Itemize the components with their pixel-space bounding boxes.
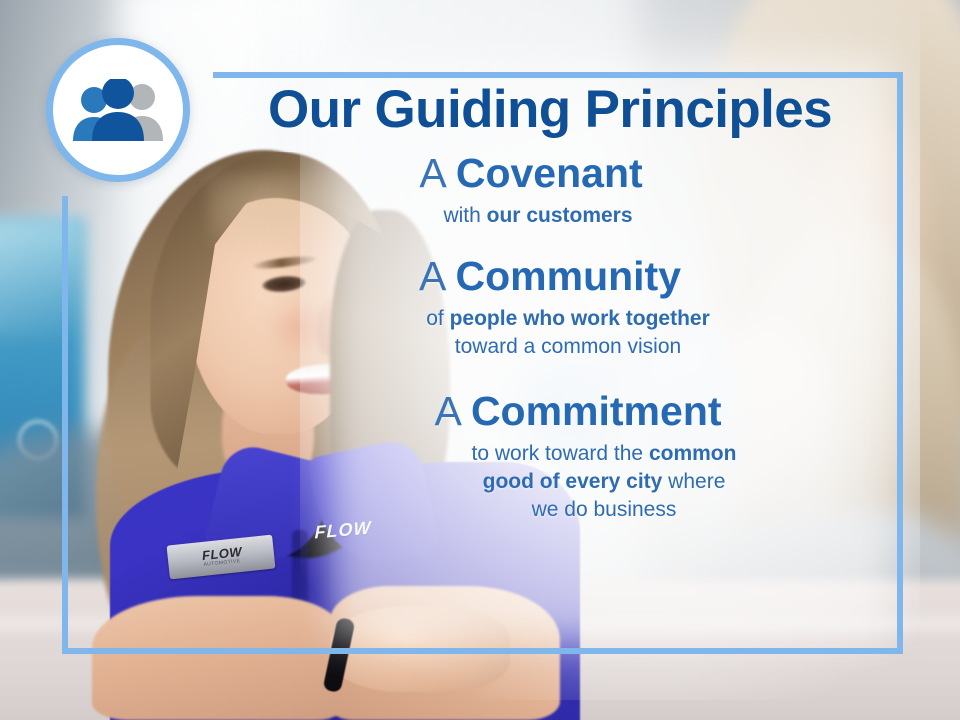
sub-text-bold: people who work together bbox=[450, 307, 710, 330]
sub-line: with our customers bbox=[230, 202, 846, 230]
sub-text-plain: we do business bbox=[532, 498, 677, 521]
principle-community-sub: of people who work together toward a com… bbox=[216, 305, 884, 360]
principle-commitment-article: A bbox=[434, 388, 459, 434]
principle-covenant-word: Covenant bbox=[456, 150, 643, 196]
people-group-icon bbox=[66, 79, 170, 141]
sub-line: good of every city where bbox=[324, 468, 884, 496]
employee-arm-left bbox=[92, 596, 342, 720]
sub-text-bold: common bbox=[649, 442, 737, 465]
principle-covenant: A Covenant with our customers bbox=[216, 151, 884, 230]
sub-line: of people who work together bbox=[252, 305, 884, 333]
principle-commitment: A Commitment to work toward the common g… bbox=[216, 389, 884, 523]
sub-line: to work toward the common bbox=[324, 440, 884, 468]
sub-line: toward a common vision bbox=[252, 333, 884, 361]
page-title: Our Guiding Principles bbox=[216, 82, 884, 137]
poster-root: FLOW FLOW AUTOMOTIVE Our Gui bbox=[0, 0, 960, 720]
employee-hands bbox=[330, 606, 510, 692]
sub-text-plain: with bbox=[443, 204, 486, 227]
principle-commitment-sub: to work toward the common good of every … bbox=[272, 440, 884, 523]
principle-covenant-article: A bbox=[419, 150, 444, 196]
principle-community: A Community of people who work together … bbox=[216, 254, 884, 361]
text-stack: Our Guiding Principles A Covenant with o… bbox=[216, 82, 884, 523]
sub-text-plain: of bbox=[426, 307, 449, 330]
display-board-highlight bbox=[0, 218, 85, 338]
sub-text-bold: our customers bbox=[487, 204, 633, 227]
sub-line: we do business bbox=[324, 496, 884, 524]
sub-text-plain: to work toward the bbox=[472, 442, 649, 465]
principle-covenant-heading: A Covenant bbox=[216, 151, 846, 195]
principle-community-word: Community bbox=[456, 253, 682, 299]
principle-commitment-word: Commitment bbox=[471, 388, 722, 434]
sub-text-plain: where bbox=[662, 470, 725, 493]
sub-text-plain: toward a common vision bbox=[455, 335, 681, 358]
sub-text-bold: good of every city bbox=[483, 470, 663, 493]
badge-circle bbox=[46, 38, 190, 182]
principle-community-heading: A Community bbox=[216, 254, 884, 298]
principle-covenant-sub: with our customers bbox=[216, 202, 846, 230]
principle-commitment-heading: A Commitment bbox=[272, 389, 884, 433]
principle-community-article: A bbox=[419, 253, 444, 299]
